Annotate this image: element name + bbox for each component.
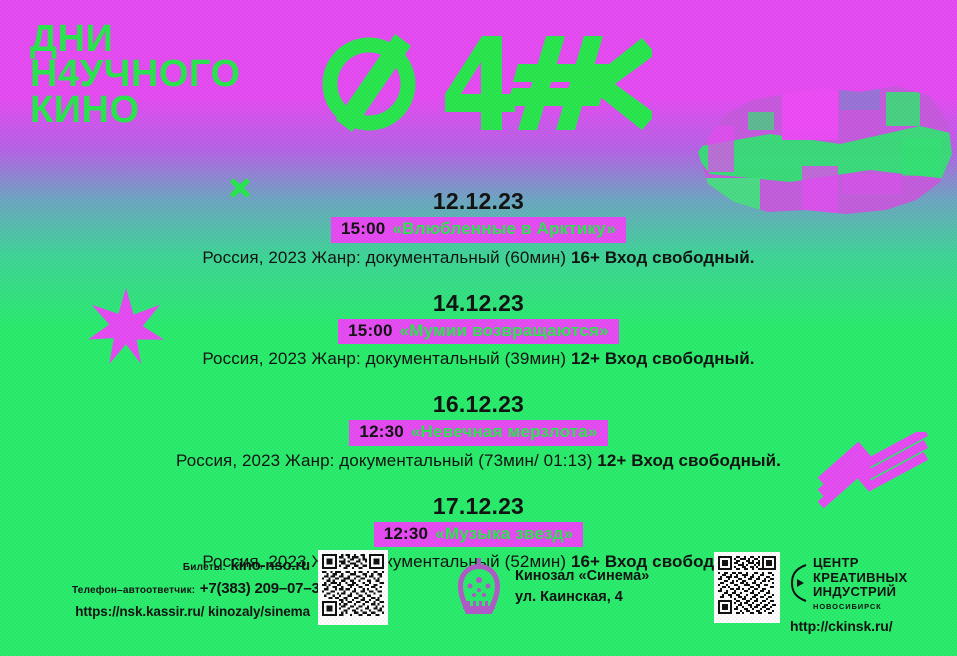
- poster-footer: Билеты: kino-nso.ru Телефон–автоответчик…: [0, 548, 957, 640]
- entry-date: 12.12.23: [0, 188, 957, 215]
- qr-kassir[interactable]: [318, 550, 388, 625]
- logo-glyphs-icon: [322, 28, 652, 136]
- cci-url[interactable]: http://ckinsk.ru/: [790, 618, 907, 634]
- cci-city: НОВОСИБИРСК: [813, 602, 907, 611]
- entry-film-title: «Музыка звезд»: [435, 524, 573, 543]
- cci-text: ЦЕНТР КРЕАТИВНЫХ ИНДУСТРИЙ НОВОСИБИРСК h…: [790, 552, 907, 634]
- screening-schedule: 12.12.23 15:00«Влюбленные в Арктику» Рос…: [0, 188, 957, 594]
- entry-meta: Россия, 2023 Жанр: документальный (60мин…: [0, 248, 957, 268]
- cci-bracket-icon: [790, 563, 808, 603]
- cci-line-1: ЦЕНТР: [813, 556, 907, 571]
- entry-time: 15:00: [348, 321, 392, 340]
- entry-meta-bold: 12+ Вход свободный.: [571, 349, 755, 368]
- entry-time: 12:30: [384, 524, 428, 543]
- entry-date: 16.12.23: [0, 391, 957, 418]
- tickets-label: Билеты:: [183, 562, 226, 573]
- wordmark-line-1: ДНИ: [30, 22, 241, 57]
- entry-time: 15:00: [341, 219, 385, 238]
- entry-title-bar[interactable]: 12:30«Невечная мерзлота»: [349, 420, 607, 445]
- cinema-ornament-icon: [455, 556, 503, 618]
- festival-wordmark: ДНИ Н4УЧНОГО КИНО: [30, 22, 241, 128]
- phone-label: Телефон–автоответчик:: [72, 585, 195, 596]
- kassir-url[interactable]: https://nsk.kassir.ru/ kinozaly/sinema: [75, 604, 310, 619]
- qr-ckinsk-icon: [718, 556, 776, 614]
- venue-text: Кинозал «Синема» ул. Каинская, 4: [515, 566, 649, 607]
- entry-title-bar[interactable]: 15:00«Влюбленные в Арктику»: [331, 217, 626, 242]
- entry-film-title: «Мумии возвращаются»: [400, 321, 609, 340]
- phone-number[interactable]: +7(383) 209–07–39: [200, 580, 328, 597]
- cci-line-2: КРЕАТИВНЫХ: [813, 571, 907, 586]
- entry-meta-plain: Россия, 2023 Жанр: документальный (73мин…: [176, 451, 597, 470]
- entry-film-title: «Невечная мерзлота»: [411, 422, 598, 441]
- qr-kassir-icon: [322, 554, 384, 616]
- entry-meta-bold: 16+ Вход свободный.: [571, 248, 755, 267]
- venue-name: Кинозал «Синема»: [515, 566, 649, 587]
- cci-line-3: ИНДУСТРИЙ: [813, 585, 907, 600]
- venue-address: ул. Каинская, 4: [515, 587, 649, 608]
- entry-meta: Россия, 2023 Жанр: документальный (39мин…: [0, 349, 957, 369]
- phone-row: Телефон–автоответчик: +7(383) 209–07–39: [72, 577, 310, 600]
- tickets-row: Билеты: kino-nso.ru: [72, 554, 310, 577]
- cci-block: ЦЕНТР КРЕАТИВНЫХ ИНДУСТРИЙ НОВОСИБИРСК h…: [714, 552, 907, 634]
- schedule-entry: 14.12.23 15:00«Мумии возвращаются» Росси…: [0, 290, 957, 370]
- entry-time: 12:30: [359, 422, 403, 441]
- entry-title-bar[interactable]: 12:30«Музыка звезд»: [374, 522, 584, 547]
- venue-info: Кинозал «Синема» ул. Каинская, 4: [455, 556, 649, 618]
- wordmark-line-2: Н4УЧНОГО: [30, 57, 241, 92]
- entry-meta: Россия, 2023 Жанр: документальный (73мин…: [0, 451, 957, 471]
- kassir-url-row: https://nsk.kassir.ru/ kinozaly/sinema: [72, 600, 310, 623]
- entry-date: 14.12.23: [0, 290, 957, 317]
- entry-meta-plain: Россия, 2023 Жанр: документальный (60мин…: [202, 248, 571, 267]
- schedule-entry: 12.12.23 15:00«Влюбленные в Арктику» Рос…: [0, 188, 957, 268]
- wordmark-line-3: КИНО: [30, 93, 241, 128]
- tickets-info: Билеты: kino-nso.ru Телефон–автоответчик…: [72, 554, 310, 624]
- entry-meta-plain: Россия, 2023 Жанр: документальный (39мин…: [202, 349, 571, 368]
- tickets-site[interactable]: kino-nso.ru: [231, 557, 310, 574]
- festival-logo: [322, 28, 652, 136]
- entry-date: 17.12.23: [0, 493, 957, 520]
- schedule-entry: 16.12.23 12:30«Невечная мерзлота» Россия…: [0, 391, 957, 471]
- qr-ckinsk[interactable]: [714, 552, 780, 623]
- entry-title-bar[interactable]: 15:00«Мумии возвращаются»: [338, 319, 619, 344]
- poster-canvas: ДНИ Н4УЧНОГО КИНО 12.12.23: [0, 0, 957, 656]
- entry-meta-bold: 12+ Вход свободный.: [597, 451, 781, 470]
- entry-film-title: «Влюбленные в Арктику»: [392, 219, 616, 238]
